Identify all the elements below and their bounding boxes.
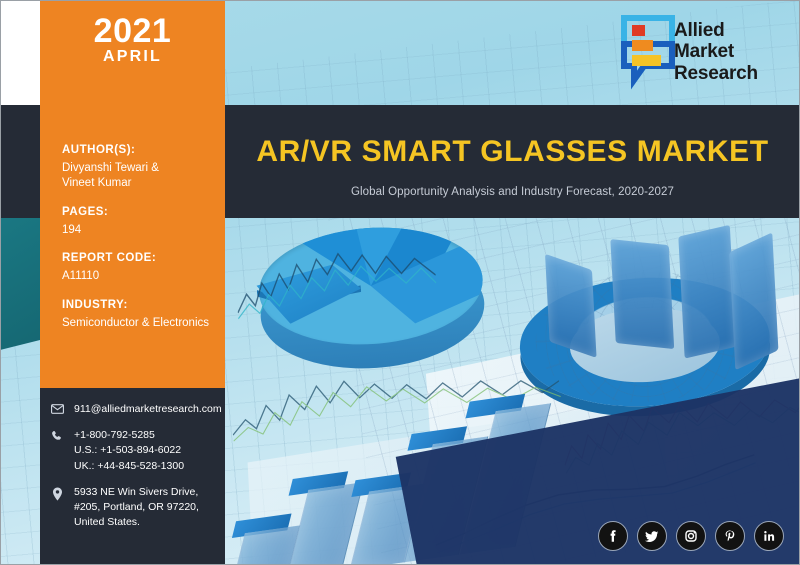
pages-value: 194 xyxy=(62,223,225,239)
page-title: AR/VR SMART GLASSES MARKET xyxy=(225,135,800,169)
contact-address-text: 5933 NE Win Sivers Drive, #205, Portland… xyxy=(74,485,199,531)
logo-line-allied: Allied xyxy=(674,20,758,41)
publication-year: 2021 xyxy=(40,14,225,49)
industry-label: INDUSTRY: xyxy=(62,299,225,311)
linkedin-icon[interactable] xyxy=(754,521,784,551)
contact-phone-row[interactable]: +1-800-792-5285 U.S.: +1-503-894-6022 UK… xyxy=(40,428,215,474)
speech-bubble-icon xyxy=(618,14,678,90)
authors-value: Divyanshi Tewari & Vineet Kumar xyxy=(62,161,225,192)
pinterest-icon[interactable] xyxy=(715,521,745,551)
report-metadata: AUTHOR(S): Divyanshi Tewari & Vineet Kum… xyxy=(40,144,225,332)
bar-1 xyxy=(233,514,297,565)
publication-date: 2021 APRIL xyxy=(40,0,225,66)
instagram-icon[interactable] xyxy=(676,521,706,551)
publication-month: APRIL xyxy=(40,48,225,66)
report-code-label: REPORT CODE: xyxy=(62,252,225,264)
authors-label: AUTHOR(S): xyxy=(62,144,225,156)
social-links xyxy=(598,521,784,551)
location-pin-icon xyxy=(40,485,74,501)
page-subtitle: Global Opportunity Analysis and Industry… xyxy=(225,186,800,198)
donut-segment-3 xyxy=(678,225,736,359)
logo-line-market: Market xyxy=(674,41,758,62)
navy-left-strip xyxy=(0,105,40,218)
donut-segment-1 xyxy=(545,254,597,358)
pages-label: PAGES: xyxy=(62,206,225,218)
orange-info-panel: 2021 APRIL AUTHOR(S): Divyanshi Tewari &… xyxy=(40,0,225,388)
report-code-value: A11110 xyxy=(62,269,225,285)
white-corner-block xyxy=(0,0,40,105)
contact-panel: 911@alliedmarketresearch.com +1-800-792-… xyxy=(40,388,225,565)
logo-bar-red xyxy=(632,25,645,36)
logo-bar-orange xyxy=(632,40,653,51)
bar-2 xyxy=(290,472,359,565)
industry-value: Semiconductor & Electronics xyxy=(62,316,225,332)
contact-email-row[interactable]: 911@alliedmarketresearch.com xyxy=(40,402,215,417)
envelope-icon xyxy=(40,402,74,414)
logo-wordmark: Allied Market Research xyxy=(674,20,758,84)
logo-line-research: Research xyxy=(674,63,758,84)
donut-segment-4 xyxy=(729,232,778,370)
facebook-icon[interactable] xyxy=(598,521,628,551)
contact-address-row[interactable]: 5933 NE Win Sivers Drive, #205, Portland… xyxy=(40,485,215,531)
title-band: AR/VR SMART GLASSES MARKET Global Opport… xyxy=(225,105,800,218)
twitter-icon[interactable] xyxy=(637,521,667,551)
contact-phone-text: +1-800-792-5285 U.S.: +1-503-894-6022 UK… xyxy=(74,428,184,474)
contact-email-text: 911@alliedmarketresearch.com xyxy=(74,402,222,417)
line-trace-upper xyxy=(234,241,438,325)
report-cover: 2021 APRIL AUTHOR(S): Divyanshi Tewari &… xyxy=(0,0,800,565)
logo-bar-yellow xyxy=(632,55,661,66)
allied-market-research-logo[interactable]: Allied Market Research xyxy=(618,14,786,92)
donut-segment-2 xyxy=(610,239,674,349)
phone-icon xyxy=(40,428,74,442)
